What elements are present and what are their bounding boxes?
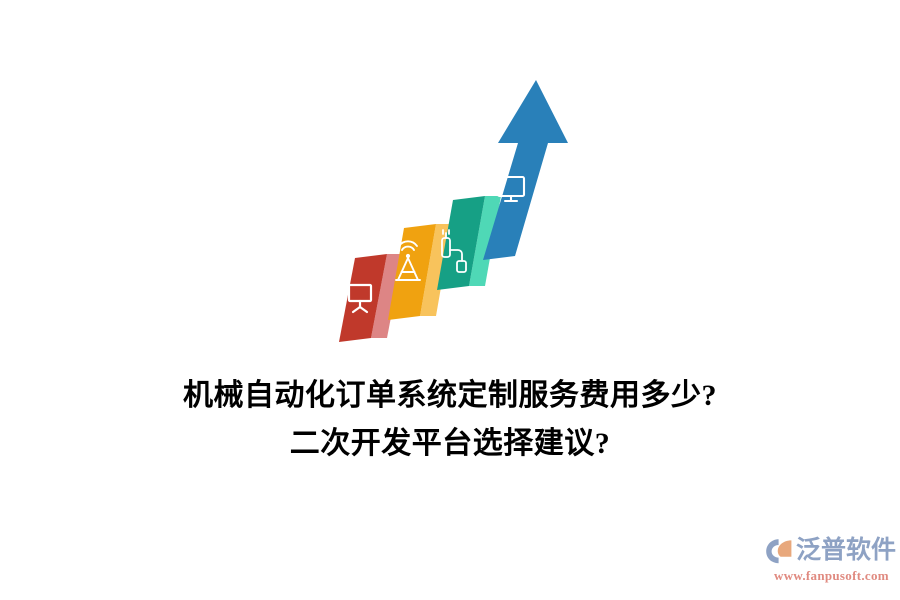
- ascending-arrow-infographic: [330, 80, 580, 345]
- brand-logo[interactable]: 泛普软件 www.fanpusoft.com: [765, 535, 895, 585]
- brand-wordmark: 泛普软件: [796, 537, 896, 565]
- fanpu-logo-mark-icon: [765, 537, 793, 565]
- page-title: 机械自动化订单系统定制服务费用多少? 二次开发平台选择建议?: [0, 372, 900, 468]
- brand-logo-row: 泛普软件: [765, 535, 895, 567]
- brand-website-url: www.fanpusoft.com: [774, 568, 895, 584]
- page-title-line-2: 二次开发平台选择建议?: [0, 420, 900, 468]
- page-title-line-1: 机械自动化订单系统定制服务费用多少?: [0, 372, 900, 420]
- logo-mark-blue-swoosh: [766, 539, 778, 563]
- logo-mark-orange-shape: [778, 540, 792, 556]
- poster-canvas: 机械自动化订单系统定制服务费用多少? 二次开发平台选择建议? 泛普软件 www.…: [0, 0, 900, 600]
- arrow-segment-blue: [483, 80, 568, 260]
- arrow-shaft-and-head: [483, 80, 568, 260]
